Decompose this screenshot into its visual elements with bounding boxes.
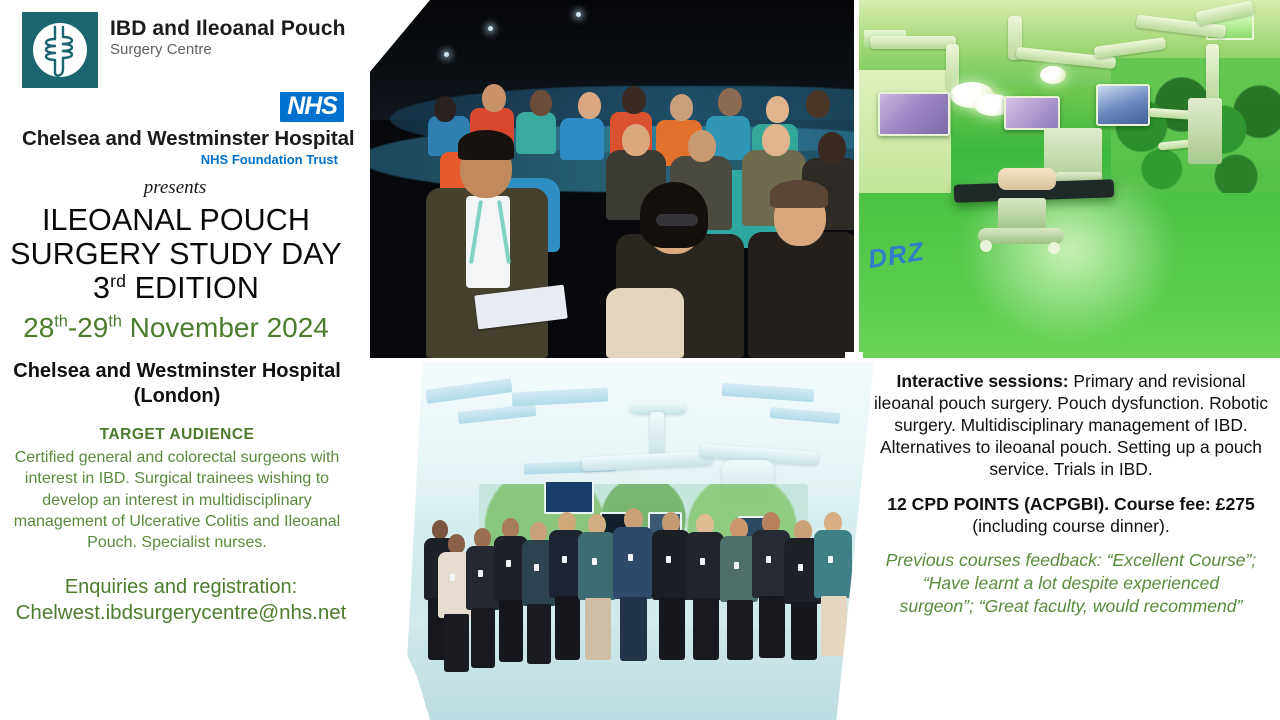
attendee-head xyxy=(688,130,716,162)
caster xyxy=(980,240,992,252)
date-month-year: November 2024 xyxy=(130,312,329,343)
page-title: ILEOANAL POUCH SURGERY STUDY DAY 3rd EDI… xyxy=(0,203,380,305)
accreditation: 12 CPD POINTS (ACPGBI). Course fee: £275… xyxy=(868,493,1274,537)
attendee-head xyxy=(434,96,456,122)
cpd-note: (including course dinner). xyxy=(868,515,1274,537)
centre-name-line2: Surgery Centre xyxy=(110,41,346,60)
title-line-1: ILEOANAL POUCH xyxy=(0,203,352,237)
enquiries-label: Enquiries and registration: xyxy=(0,575,362,600)
attendee-head xyxy=(622,86,646,114)
edition-word: EDITION xyxy=(135,271,259,305)
date-separator: - xyxy=(68,312,77,343)
attendee-head xyxy=(762,124,790,156)
seat xyxy=(560,118,604,160)
delegates-group-photo xyxy=(404,362,874,720)
cpd-points-and-fee: 12 CPD POINTS (ACPGBI). Course fee: £275 xyxy=(868,493,1274,515)
surgical-lamp xyxy=(1040,66,1066,84)
pendant-column xyxy=(650,412,664,458)
monitor xyxy=(1096,84,1150,126)
attendee-head xyxy=(670,94,693,121)
photo-seam-vertical xyxy=(854,0,859,360)
attendee-hair xyxy=(770,180,828,208)
monitor xyxy=(1004,96,1060,130)
previous-feedback: Previous courses feedback: “Excellent Co… xyxy=(868,549,1274,618)
centre-name-line1: IBD and Ileoanal Pouch xyxy=(110,18,346,40)
conference-poster: DRZ xyxy=(0,0,1280,720)
interactive-sessions-label: Interactive sessions: xyxy=(897,371,1069,391)
nhs-wordmark: NHS xyxy=(287,94,337,119)
centre-logo-text: IBD and Ileoanal Pouch Surgery Centre xyxy=(110,12,346,60)
right-panel-content: Interactive sessions: Primary and revisi… xyxy=(862,362,1280,618)
venue-line-1: Chelsea and Westminster Hospital xyxy=(0,359,354,383)
table-pad xyxy=(998,168,1056,190)
caster xyxy=(1048,242,1060,254)
title-line-2: SURGERY STUDY DAY xyxy=(0,237,352,271)
attendee-head xyxy=(806,90,830,118)
ceiling-light xyxy=(488,26,493,31)
attendee-head xyxy=(818,132,846,164)
attendee-hair xyxy=(458,130,514,160)
attendee-head xyxy=(578,92,601,119)
trust-subtitle: NHS Foundation Trust xyxy=(22,152,380,167)
edition-number: 3 xyxy=(93,271,110,305)
feedback-line-3: surgeon”; “Great faculty, would recommen… xyxy=(868,595,1274,618)
attendee-foreground-body xyxy=(748,232,858,358)
floor-light-pool xyxy=(959,186,1178,344)
date-day-1: 28 xyxy=(23,312,54,343)
feedback-line-1: Previous courses feedback: “Excellent Co… xyxy=(868,549,1274,572)
date-ordinal-1: th xyxy=(54,313,68,331)
date-ordinal-2: th xyxy=(108,313,122,331)
bowel-icon xyxy=(22,12,98,88)
robot-column xyxy=(1188,98,1222,164)
seat xyxy=(516,112,556,154)
attendee-head xyxy=(482,84,506,112)
green-operating-theatre-photo: DRZ xyxy=(858,0,1280,358)
table-column xyxy=(998,198,1046,232)
interactive-sessions: Interactive sessions: Primary and revisi… xyxy=(868,370,1274,480)
ceiling-light xyxy=(444,52,449,57)
edition-ordinal: rd xyxy=(110,271,126,291)
attendee-head xyxy=(530,90,552,116)
target-audience-heading: TARGET AUDIENCE xyxy=(0,426,380,444)
lecture-theatre-audience-photo xyxy=(370,0,858,358)
nhs-trust-logo: NHS Chelsea and Westminster Hospital NHS… xyxy=(0,92,380,167)
glasses xyxy=(656,214,698,226)
panel-gap xyxy=(845,352,863,362)
enquiries-email[interactable]: Chelwest.ibdsurgerycentre@nhs.net xyxy=(0,600,362,626)
wall-screen xyxy=(544,480,594,514)
presents-label: presents xyxy=(0,177,380,199)
pendant-column xyxy=(946,44,959,90)
enquiries: Enquiries and registration: Chelwest.ibd… xyxy=(0,575,380,626)
attendee-coat xyxy=(606,288,684,358)
pendant-arm xyxy=(870,36,956,49)
event-dates: 28th-29th November 2024 xyxy=(0,312,380,344)
feedback-line-2: “Have learnt a lot despite experienced xyxy=(868,572,1274,595)
pendant-column xyxy=(1206,44,1219,102)
venue: Chelsea and Westminster Hospital (London… xyxy=(0,359,380,408)
date-day-2: 29 xyxy=(77,312,108,343)
ceiling-light xyxy=(576,12,581,17)
attendee-head xyxy=(718,88,742,116)
attendee-head xyxy=(766,96,789,123)
attendee-head xyxy=(622,124,650,156)
centre-logo: IBD and Ileoanal Pouch Surgery Centre xyxy=(0,0,380,88)
venue-line-2: (London) xyxy=(0,384,354,408)
monitor xyxy=(878,92,950,136)
target-audience-body: Certified general and colorectal surgeon… xyxy=(0,447,380,553)
left-panel-content: IBD and Ileoanal Pouch Surgery Centre NH… xyxy=(0,0,380,626)
title-edition: 3rd EDITION xyxy=(0,271,352,305)
nhs-logo-box: NHS xyxy=(280,92,344,122)
